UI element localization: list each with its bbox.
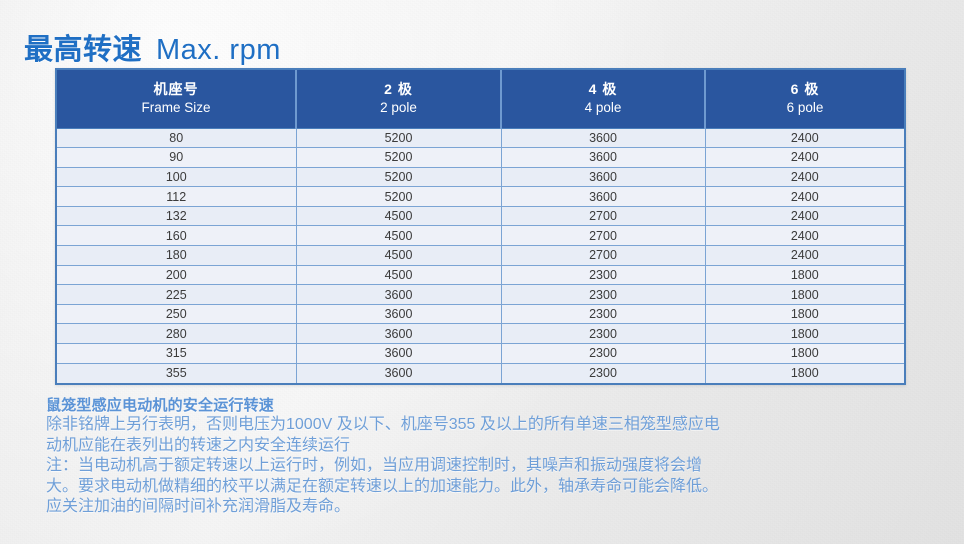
cell-4-pole: 2300 — [501, 344, 705, 364]
cell-2-pole: 3600 — [296, 304, 501, 324]
cell-4-pole: 2300 — [501, 324, 705, 344]
cell-2-pole: 4500 — [296, 265, 501, 285]
column-header-2-pole: 2 极 2 pole — [296, 70, 501, 128]
cell-4-pole: 3600 — [501, 187, 705, 207]
cell-6-pole: 1800 — [705, 265, 904, 285]
column-header-frame-size: 机座号 Frame Size — [57, 70, 296, 128]
column-header-frame-size-cn: 机座号 — [59, 81, 293, 99]
cell-frame-size: 180 — [57, 246, 296, 266]
cell-frame-size: 225 — [57, 285, 296, 305]
table-header-row: 机座号 Frame Size 2 极 2 pole 4 极 4 pole 6 极… — [57, 70, 904, 128]
table-header: 机座号 Frame Size 2 极 2 pole 4 极 4 pole 6 极… — [57, 70, 904, 128]
cell-4-pole: 2300 — [501, 363, 705, 383]
cell-frame-size: 80 — [57, 128, 296, 148]
cell-4-pole: 2700 — [501, 206, 705, 226]
cell-2-pole: 4500 — [296, 206, 501, 226]
cell-6-pole: 1800 — [705, 324, 904, 344]
cell-6-pole: 2400 — [705, 246, 904, 266]
cell-2-pole: 4500 — [296, 246, 501, 266]
footer-notes: 鼠笼型感应电动机的安全运行转速 除非铭牌上另行表明，否则电压为1000V 及以下… — [46, 396, 952, 518]
cell-2-pole: 5200 — [296, 187, 501, 207]
column-header-2-pole-en: 2 pole — [299, 99, 498, 116]
table-row: 112520036002400 — [57, 187, 904, 207]
cell-frame-size: 160 — [57, 226, 296, 246]
cell-6-pole: 2400 — [705, 206, 904, 226]
table-row: 280360023001800 — [57, 324, 904, 344]
cell-6-pole: 2400 — [705, 187, 904, 207]
table-row: 100520036002400 — [57, 167, 904, 187]
cell-6-pole: 1800 — [705, 344, 904, 364]
cell-6-pole: 2400 — [705, 148, 904, 168]
cell-4-pole: 2300 — [501, 265, 705, 285]
column-header-6-pole: 6 极 6 pole — [705, 70, 904, 128]
cell-6-pole: 1800 — [705, 363, 904, 383]
cell-4-pole: 2700 — [501, 226, 705, 246]
cell-frame-size: 112 — [57, 187, 296, 207]
cell-6-pole: 1800 — [705, 304, 904, 324]
column-header-6-pole-cn: 6 极 — [708, 81, 902, 99]
cell-frame-size: 315 — [57, 344, 296, 364]
notes-line-3: 注：当电动机高于额定转速以上运行时，例如，当应用调速控制时，其噪声和振动强度将会… — [46, 456, 952, 477]
table-row: 132450027002400 — [57, 206, 904, 226]
cell-frame-size: 200 — [57, 265, 296, 285]
cell-2-pole: 3600 — [296, 324, 501, 344]
table-row: 200450023001800 — [57, 265, 904, 285]
column-header-frame-size-en: Frame Size — [59, 99, 293, 116]
slide: 最高转速Max. rpm 机座号 Frame Size 2 极 2 pole — [0, 0, 964, 544]
cell-frame-size: 132 — [57, 206, 296, 226]
cell-2-pole: 5200 — [296, 128, 501, 148]
cell-frame-size: 250 — [57, 304, 296, 324]
cell-4-pole: 2700 — [501, 246, 705, 266]
page-title: 最高转速Max. rpm — [24, 26, 281, 68]
cell-4-pole: 2300 — [501, 285, 705, 305]
table-row: 225360023001800 — [57, 285, 904, 305]
cell-frame-size: 90 — [57, 148, 296, 168]
page-title-cn: 最高转速 — [24, 34, 142, 66]
max-rpm-table: 机座号 Frame Size 2 极 2 pole 4 极 4 pole 6 极… — [57, 70, 904, 383]
cell-4-pole: 2300 — [501, 304, 705, 324]
cell-2-pole: 3600 — [296, 344, 501, 364]
table-body: 8052003600240090520036002400100520036002… — [57, 128, 904, 383]
cell-frame-size: 355 — [57, 363, 296, 383]
notes-line-2: 动机应能在表列出的转速之内安全连续运行 — [46, 436, 952, 457]
cell-2-pole: 5200 — [296, 148, 501, 168]
table-row: 315360023001800 — [57, 344, 904, 364]
notes-line-4: 大。要求电动机做精细的校平以满足在额定转速以上的加速能力。此外，轴承寿命可能会降… — [46, 477, 952, 498]
table-row: 90520036002400 — [57, 148, 904, 168]
cell-frame-size: 280 — [57, 324, 296, 344]
cell-2-pole: 3600 — [296, 363, 501, 383]
cell-2-pole: 4500 — [296, 226, 501, 246]
table-row: 160450027002400 — [57, 226, 904, 246]
cell-6-pole: 2400 — [705, 226, 904, 246]
table-row: 180450027002400 — [57, 246, 904, 266]
column-header-2-pole-cn: 2 极 — [299, 81, 498, 99]
table-row: 355360023001800 — [57, 363, 904, 383]
cell-6-pole: 2400 — [705, 128, 904, 148]
cell-2-pole: 3600 — [296, 285, 501, 305]
column-header-4-pole: 4 极 4 pole — [501, 70, 705, 128]
table-row: 80520036002400 — [57, 128, 904, 148]
notes-line-1: 除非铭牌上另行表明，否则电压为1000V 及以下、机座号355 及以上的所有单速… — [46, 415, 952, 436]
page-title-en: Max. rpm — [156, 34, 281, 66]
cell-2-pole: 5200 — [296, 167, 501, 187]
cell-6-pole: 1800 — [705, 285, 904, 305]
cell-4-pole: 3600 — [501, 148, 705, 168]
cell-4-pole: 3600 — [501, 167, 705, 187]
column-header-6-pole-en: 6 pole — [708, 99, 902, 116]
column-header-4-pole-cn: 4 极 — [504, 81, 702, 99]
cell-6-pole: 2400 — [705, 167, 904, 187]
max-rpm-table-container: 机座号 Frame Size 2 极 2 pole 4 极 4 pole 6 极… — [55, 68, 906, 385]
cell-frame-size: 100 — [57, 167, 296, 187]
cell-4-pole: 3600 — [501, 128, 705, 148]
notes-line-5: 应关注加油的间隔时间补充润滑脂及寿命。 — [46, 497, 952, 518]
table-row: 250360023001800 — [57, 304, 904, 324]
column-header-4-pole-en: 4 pole — [504, 99, 702, 116]
notes-heading: 鼠笼型感应电动机的安全运行转速 — [46, 396, 952, 415]
